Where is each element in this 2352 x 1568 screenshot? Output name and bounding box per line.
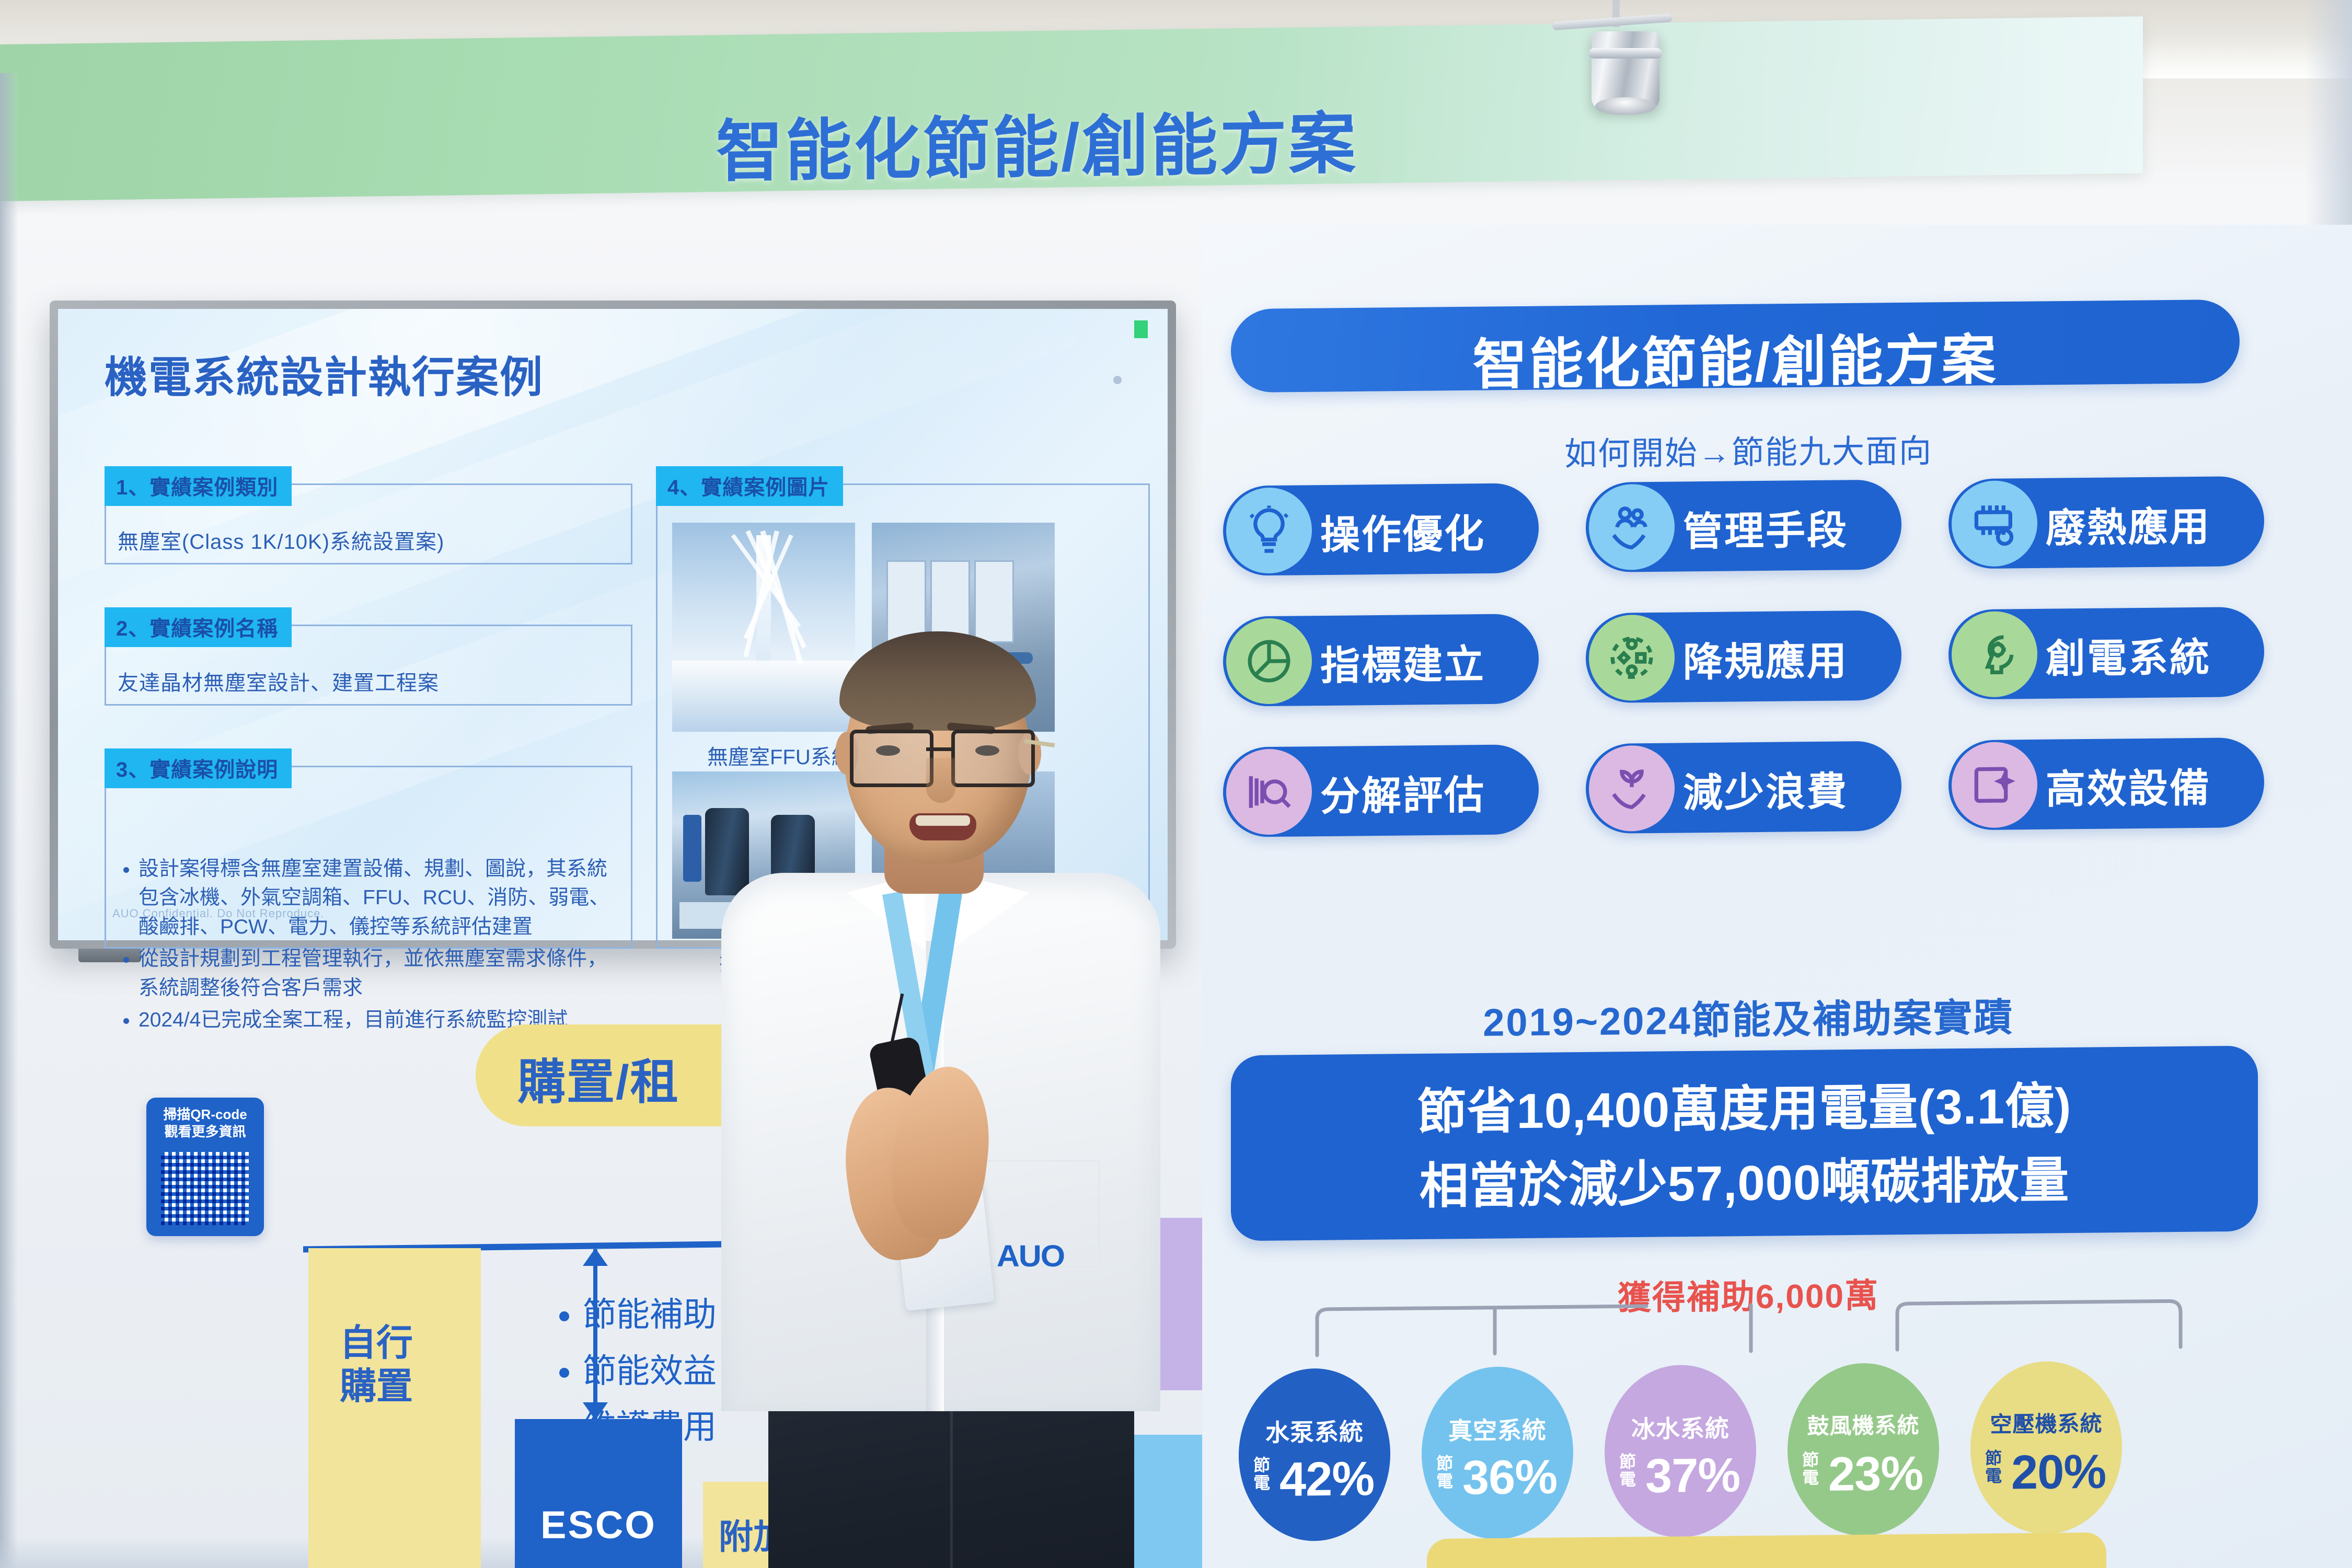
- people-hand-icon: [1589, 484, 1675, 571]
- lightbulb-icon: [1226, 487, 1312, 574]
- system-prefix: 節電: [1619, 1453, 1636, 1488]
- slide-block-body: 友達晶材無塵室設計、建置工程案: [118, 666, 439, 696]
- sparkle-box-icon: [1952, 742, 2037, 828]
- qr-code-icon: [161, 1152, 249, 1225]
- slide-footer: AUO Confidential. Do Not Reproduce.: [112, 907, 325, 920]
- achievement-title: 2019~2024節能及補助案實蹟: [1202, 984, 2295, 1050]
- system-name: 冰水系統: [1605, 1409, 1756, 1445]
- lens-left: [850, 730, 933, 787]
- system-circle-blower: 鼓風機系統 節電 23%: [1788, 1363, 1939, 1537]
- nose: [926, 758, 955, 803]
- bar-esco: ESCO: [515, 1419, 682, 1568]
- auo-logo: AUO: [997, 1239, 1064, 1274]
- list-item: 從設計規劃到工程管理執行，並依無塵室需求條件，系統調整後符合客戶需求: [139, 944, 616, 1002]
- slide-block-name: 2、實績案例名稱 友達晶材無塵室設計、建置工程案: [105, 625, 632, 706]
- aspects-row-1: 操作優化 管理手段: [1223, 476, 2300, 578]
- system-circle-chiller: 冰水系統 節電 37%: [1605, 1364, 1756, 1538]
- aspects-row-3: 分解評估 減少浪費: [1223, 737, 2300, 839]
- slide-block-tag: 3、實績案例說明: [105, 748, 292, 788]
- network-icon: [1589, 615, 1675, 701]
- system-prefix: 節電: [1436, 1455, 1453, 1490]
- aspect-pill-indicator-setup[interactable]: 指標建立: [1223, 614, 1539, 707]
- system-name: 鼓風機系統: [1788, 1408, 1939, 1441]
- aspect-pill-power-generation[interactable]: 創電系統: [1949, 607, 2264, 700]
- slide-block-body: 無塵室(Class 1K/10K)系統設置案): [118, 525, 444, 555]
- system-percent: 37%: [1645, 1448, 1740, 1504]
- slide-block-tag: 1、實績案例類別: [105, 466, 292, 506]
- presenter-hair: [839, 631, 1036, 731]
- system-prefix: 節電: [1802, 1451, 1819, 1486]
- system-percent: 42%: [1279, 1451, 1374, 1507]
- slide-title: 機電系統設計執行案例: [105, 342, 544, 405]
- system-percent: 36%: [1462, 1450, 1557, 1506]
- mouth: [909, 813, 976, 840]
- spotlight-lens: [1595, 97, 1656, 115]
- screenshot-root: 智能化節能/創能方案 機電系統設計執行案例 1、實績案例類別 無塵室(Class…: [0, 0, 2352, 1568]
- aspect-label: 操作優化: [1320, 501, 1485, 560]
- achievement-line-1: 節省10,400萬度用電量(3.1億): [1231, 1065, 2258, 1146]
- poster-header-pill: 智能化節能/創能方案: [1231, 299, 2240, 393]
- system-circle-pump: 水泵系統 節電 42%: [1239, 1368, 1390, 1542]
- aspect-label: 廢熱應用: [2046, 494, 2211, 554]
- system-prefix: 節電: [1985, 1450, 2002, 1485]
- pie-chart-icon: [1226, 618, 1312, 705]
- achievement-line-2: 相當於減少57,000噸碳排放量: [1231, 1139, 2258, 1220]
- leaf-hand-icon: [1589, 745, 1675, 832]
- purchase-lease-label: 購置/租: [517, 1043, 679, 1113]
- qr-caption: 掃描QR-code 觀看更多資訊: [146, 1106, 264, 1141]
- aspect-pill-management-method[interactable]: 管理手段: [1586, 479, 1901, 572]
- system-circle-air-compressor: 空壓機系統 節電 20%: [1970, 1361, 2122, 1535]
- screen-sensor-dot: [1113, 376, 1122, 384]
- bar-esco-label: ESCO: [515, 1503, 682, 1547]
- poster-header-title: 智能化節能/創能方案: [1231, 313, 2240, 402]
- slide-bullet-list: 設計案得標含無塵室建置設備、規劃、圖說，其系統包含冰機、外氣空調箱、FFU、RC…: [118, 855, 616, 1037]
- bar-self-purchase-label: 自行購置: [340, 1321, 413, 1408]
- aspects-row-2: 指標建立 降規應用: [1223, 606, 2300, 709]
- wall-left-edge: [0, 73, 18, 1568]
- aspect-label: 分解評估: [1320, 763, 1485, 822]
- trouser-seam: [950, 1396, 953, 1568]
- system-percent: 20%: [2011, 1445, 2106, 1501]
- poster-bottom-yellow-banner: [1427, 1532, 2106, 1568]
- slide-block-description: 3、實績案例說明 設計案得標含無塵室建置設備、規劃、圖說，其系統包含冰機、外氣空…: [105, 766, 632, 949]
- banner-title: 智能化節能/創能方案: [716, 85, 1657, 194]
- slide-block-tag: 4、實績案例圖片: [656, 466, 843, 506]
- teeth: [916, 815, 970, 826]
- aspect-pill-decomposition-assessment[interactable]: 分解評估: [1223, 744, 1539, 837]
- aspect-pill-downgrade-application[interactable]: 降規應用: [1586, 610, 1901, 703]
- glasses-bridge: [926, 747, 951, 751]
- slide-block-category: 1、實績案例類別 無塵室(Class 1K/10K)系統設置案): [105, 483, 632, 564]
- system-name: 真空系統: [1422, 1411, 1573, 1447]
- aspect-label: 減少浪費: [1683, 759, 1848, 818]
- aspect-pill-efficient-equipment[interactable]: 高效設備: [1949, 737, 2264, 831]
- brain-gear-icon: [1952, 611, 2037, 698]
- system-name: 空壓機系統: [1970, 1405, 2122, 1439]
- aspects-grid: 操作優化 管理手段: [1223, 481, 2300, 873]
- presenter: AUO: [690, 627, 1192, 1568]
- system-prefix: 節電: [1253, 1457, 1270, 1492]
- heat-gear-icon: [1952, 480, 2037, 567]
- qr-code-card[interactable]: 掃描QR-code 觀看更多資訊: [146, 1098, 264, 1236]
- aspect-label: 創電系統: [2046, 625, 2211, 684]
- status-led: [1134, 320, 1148, 338]
- qr-caption-line2: 觀看更多資訊: [164, 1124, 246, 1139]
- qr-caption-line1: 掃描QR-code: [163, 1106, 247, 1122]
- system-name: 水泵系統: [1239, 1413, 1390, 1449]
- aspect-label: 指標建立: [1320, 632, 1485, 691]
- poster-subtitle: 如何開始→節能九大面向: [1202, 421, 2295, 478]
- lens-right: [951, 730, 1035, 787]
- system-circle-vacuum: 真空系統 節電 36%: [1422, 1366, 1573, 1540]
- list-item: 設計案得標含無塵室建置設備、規劃、圖說，其系統包含冰機、外氣空調箱、FFU、RC…: [139, 855, 616, 941]
- aspect-pill-operation-optimization[interactable]: 操作優化: [1223, 483, 1539, 576]
- aspect-label: 管理手段: [1683, 498, 1848, 557]
- achievement-highlight-box: 節省10,400萬度用電量(3.1億) 相當於減少57,000噸碳排放量: [1231, 1046, 2258, 1241]
- spotlight-ring: [1589, 48, 1662, 59]
- bar-self-purchase: 自行購置: [308, 1248, 481, 1568]
- magnifier-icon: [1226, 748, 1312, 835]
- aspect-label: 降規應用: [1683, 628, 1848, 687]
- system-percent: 23%: [1828, 1446, 1923, 1502]
- energy-solution-poster: 智能化節能/創能方案 如何開始→節能九大面向 操作優化: [1202, 225, 2352, 1568]
- aspect-pill-waste-heat[interactable]: 廢熱應用: [1949, 476, 2264, 569]
- aspect-pill-reduce-waste[interactable]: 減少浪費: [1586, 741, 1901, 834]
- aspect-label: 高效設備: [2046, 756, 2211, 815]
- slide-block-tag: 2、實績案例名稱: [105, 607, 292, 647]
